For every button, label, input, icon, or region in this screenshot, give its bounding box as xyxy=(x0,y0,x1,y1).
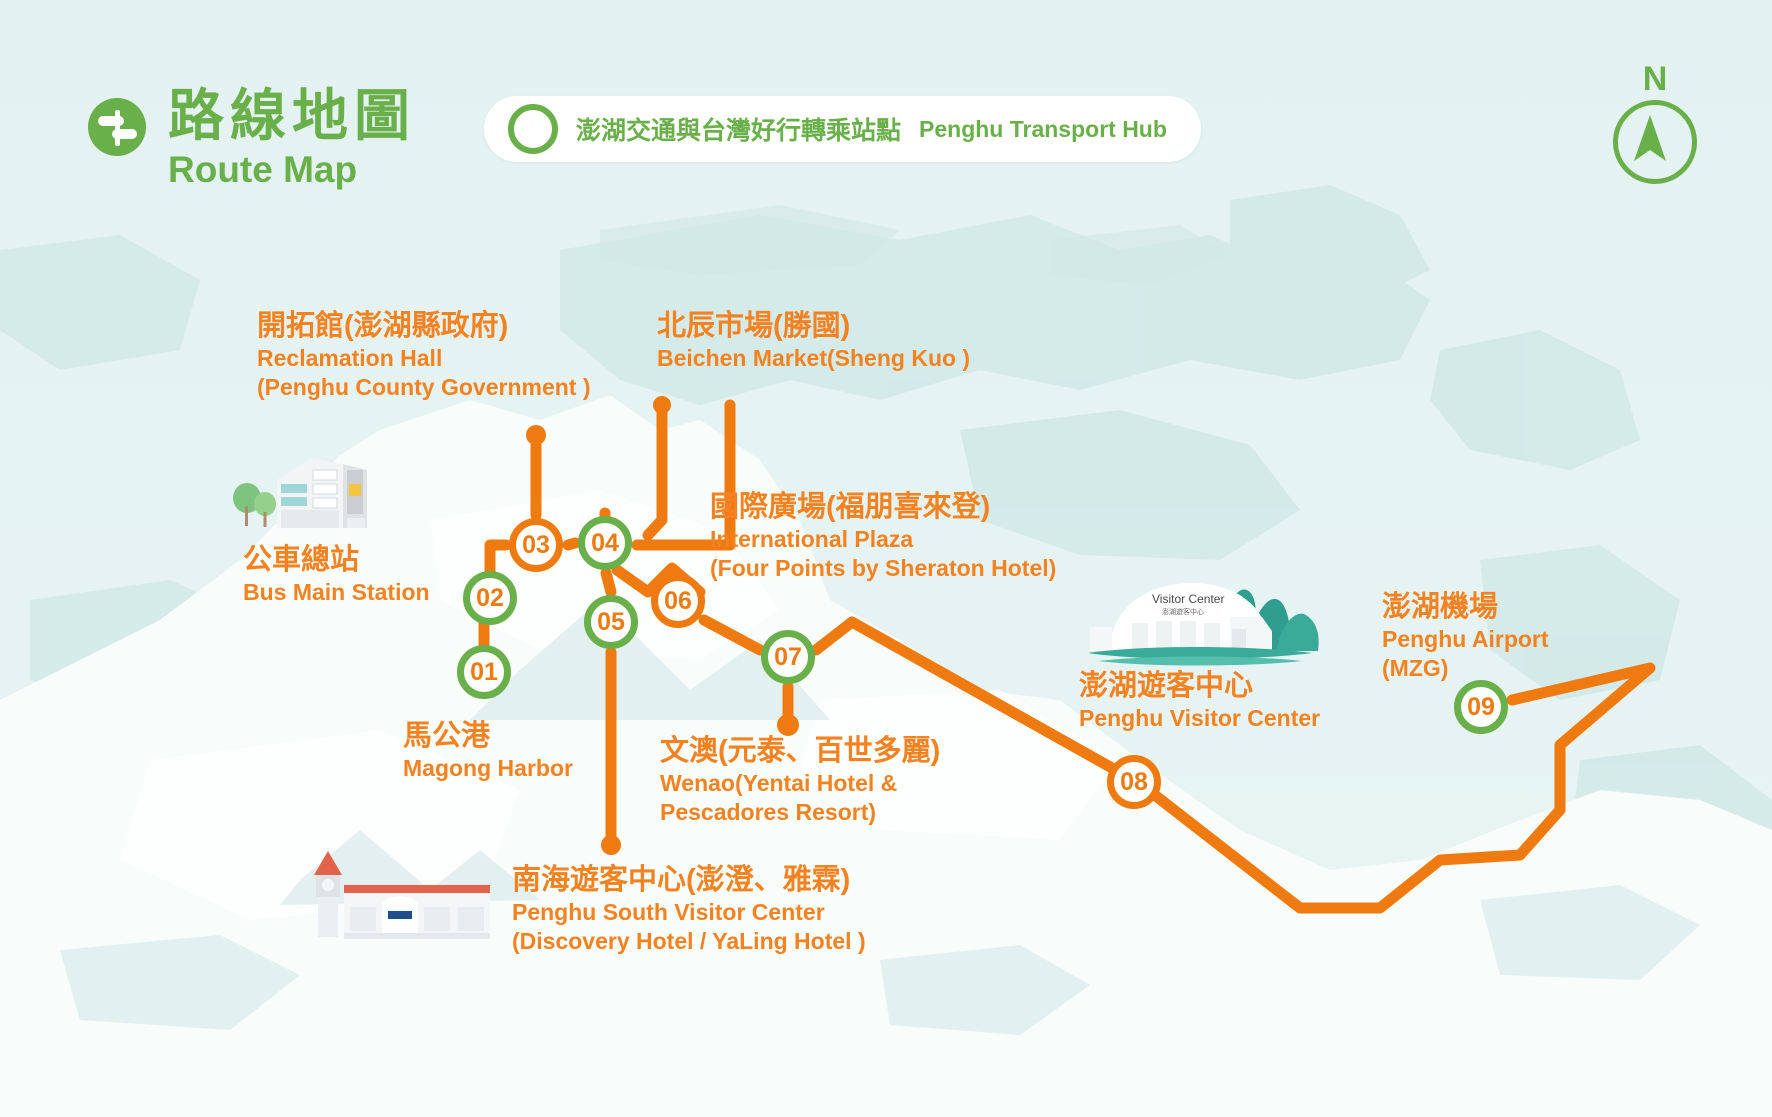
wenao-label-cn: 文澳(元泰、百世多麗) xyxy=(660,733,940,769)
penghu-airport-label-en-1: Penghu Airport xyxy=(1382,625,1549,654)
station-label-reclamation-hall: 開拓館(澎湖縣政府)Reclamation Hall(Penghu County… xyxy=(257,308,591,402)
bus-main-station-label-cn: 公車總站 xyxy=(243,542,430,578)
visitor-center-building-illustration: Visitor Center 澎湖遊客中心 xyxy=(1080,565,1330,675)
compass-north-label: N xyxy=(1600,62,1710,96)
south-visitor-center-building-illustration xyxy=(300,845,500,945)
route-segment-06-07 xyxy=(704,620,760,650)
green-ring-icon xyxy=(508,104,558,154)
station-marker-03[interactable]: 03 xyxy=(509,518,563,572)
legend-label-cn: 澎湖交通與台灣好行轉乘站點 xyxy=(576,111,901,147)
reclamation-hall-label-cn: 開拓館(澎湖縣政府) xyxy=(257,308,591,344)
station-label-bus-main-station: 公車總站Bus Main Station xyxy=(243,542,430,607)
station-label-penghu-visitor-center: 澎湖遊客中心Penghu Visitor Center xyxy=(1079,668,1320,733)
international-plaza-label-en-2: (Four Points by Sheraton Hotel) xyxy=(710,554,1056,583)
station-label-beichen-market: 北辰市場(勝國)Beichen Market(Sheng Kuo ) xyxy=(657,308,970,373)
map-header: 路線地圖 Route Map 澎湖交通與台灣好行轉乘站點 Penghu Tran… xyxy=(0,0,1772,230)
magong-harbor-label-cn: 馬公港 xyxy=(403,718,573,754)
station-marker-09[interactable]: 09 xyxy=(1454,680,1508,734)
wenao-label-en-1: Wenao(Yentai Hotel & xyxy=(660,769,940,798)
station-marker-06[interactable]: 06 xyxy=(651,574,705,628)
title-block: 路線地圖 Route Map xyxy=(88,86,416,192)
legend-transport-hub[interactable]: 澎湖交通與台灣好行轉乘站點 Penghu Transport Hub xyxy=(484,96,1201,162)
station-marker-02[interactable]: 02 xyxy=(463,571,517,625)
station-marker-07[interactable]: 07 xyxy=(761,630,815,684)
route-endpoint-dot-reclamation xyxy=(526,425,546,445)
compass: N xyxy=(1600,62,1710,184)
penghu-airport-label-en-2: (MZG) xyxy=(1382,654,1549,683)
legend-label-en: Penghu Transport Hub xyxy=(919,116,1167,143)
route-segment-04-05 xyxy=(606,573,611,592)
station-marker-05[interactable]: 05 xyxy=(584,595,638,649)
station-label-international-plaza: 國際廣場(福朋喜來登)International Plaza(Four Poin… xyxy=(710,489,1056,583)
station-label-penghu-airport: 澎湖機場Penghu Airport(MZG) xyxy=(1382,589,1549,683)
penghu-visitor-center-label-en-1: Penghu Visitor Center xyxy=(1079,704,1320,733)
penghu-airport-label-cn: 澎湖機場 xyxy=(1382,589,1549,625)
page-title-cn: 路線地圖 xyxy=(168,86,416,146)
penghu-south-visitor-center-label-en-2: (Discovery Hotel / YaLing Hotel ) xyxy=(512,927,866,956)
route-map-canvas: Visitor Center 澎湖遊客中心 xyxy=(0,0,1772,1117)
station-marker-01[interactable]: 01 xyxy=(457,645,511,699)
compass-arrow-icon xyxy=(1618,105,1682,169)
clock-tower xyxy=(314,851,342,937)
visitor-center-sign-en: Visitor Center xyxy=(1152,592,1224,606)
base-waves xyxy=(1088,647,1312,666)
trees xyxy=(233,483,276,527)
station-marker-04[interactable]: 04 xyxy=(578,516,632,570)
building-body xyxy=(277,458,367,528)
station-marker-08[interactable]: 08 xyxy=(1107,755,1161,809)
beichen-market-label-cn: 北辰市場(勝國) xyxy=(657,308,970,344)
main-hall xyxy=(344,885,490,939)
beichen-market-label-en-1: Beichen Market(Sheng Kuo ) xyxy=(657,344,970,373)
visitor-center-sign-cn: 澎湖遊客中心 xyxy=(1162,607,1204,616)
signpost-icon xyxy=(88,98,146,156)
reclamation-hall-label-en-2: (Penghu County Government ) xyxy=(257,373,591,402)
station-label-penghu-south-visitor-center: 南海遊客中心(澎澄、雅霖)Penghu South Visitor Center… xyxy=(512,862,866,956)
bus-station-building-illustration xyxy=(225,440,385,535)
magong-harbor-label-en-1: Magong Harbor xyxy=(403,754,573,783)
wenao-label-en-2: Pescadores Resort) xyxy=(660,798,940,827)
page-title-en: Route Map xyxy=(168,148,416,192)
international-plaza-label-en-1: International Plaza xyxy=(710,525,1056,554)
route-segment-03-04 xyxy=(568,543,575,545)
international-plaza-label-cn: 國際廣場(福朋喜來登) xyxy=(710,489,1056,525)
bus-main-station-label-en-1: Bus Main Station xyxy=(243,578,430,607)
penghu-south-visitor-center-label-en-1: Penghu South Visitor Center xyxy=(512,898,866,927)
route-spur-beichen-down xyxy=(648,405,662,535)
penghu-south-visitor-center-label-cn: 南海遊客中心(澎澄、雅霖) xyxy=(512,862,866,898)
compass-dial xyxy=(1613,100,1697,184)
station-label-magong-harbor: 馬公港Magong Harbor xyxy=(403,718,573,783)
reclamation-hall-label-en-1: Reclamation Hall xyxy=(257,344,591,373)
station-label-wenao: 文澳(元泰、百世多麗)Wenao(Yentai Hotel &Pescadore… xyxy=(660,733,940,827)
penghu-visitor-center-label-cn: 澎湖遊客中心 xyxy=(1079,668,1320,704)
route-endpoint-dot-south-visitor xyxy=(601,835,621,855)
